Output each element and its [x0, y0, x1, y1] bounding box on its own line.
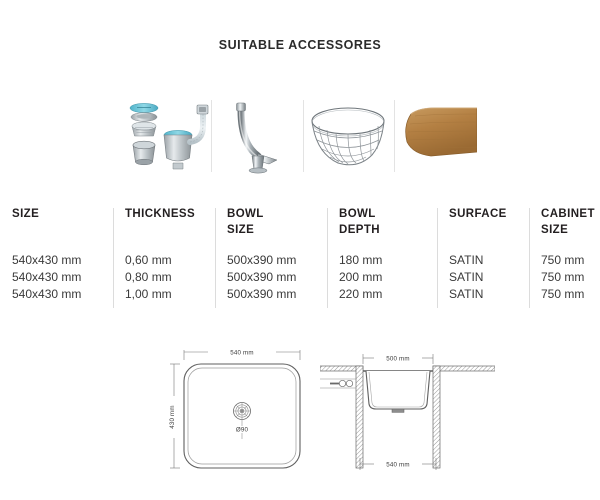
column-header-line: SIZE	[12, 206, 113, 222]
table-cell: 750 mm	[541, 286, 600, 303]
accessories-strip	[120, 92, 485, 180]
table-cell: 750 mm	[541, 252, 600, 269]
table-cell: 1,00 mm	[125, 286, 215, 303]
table-cell: 750 mm	[541, 269, 600, 286]
table-cell: 0,60 mm	[125, 252, 215, 269]
spec-values-thickness: 0,60 mm 0,80 mm 1,00 mm	[125, 252, 215, 303]
drain-kit-icon	[123, 100, 209, 172]
accessory-item-drain-waste-kit[interactable]	[120, 92, 211, 180]
column-header-thickness: THICKNESS	[125, 206, 215, 238]
table-cell: 540x430 mm	[12, 252, 113, 269]
top-view-width-label: 540 mm	[230, 349, 254, 356]
table-cell: 180 mm	[339, 252, 437, 269]
spec-column-thickness: THICKNESS 0,60 mm 0,80 mm 1,00 mm	[113, 206, 215, 303]
page-title-text: SUITABLE ACCESSORES	[219, 38, 382, 52]
section-view-cabinet-label: 540 mm	[386, 461, 410, 468]
faucet-icon	[225, 98, 289, 174]
sink-section-view-drawing: 500 mm	[320, 338, 495, 488]
accessory-item-wire-basket[interactable]	[303, 92, 394, 180]
table-cell: SATIN	[449, 286, 529, 303]
column-header-line: BOWL	[339, 206, 437, 222]
spec-values-surface: SATIN SATIN SATIN	[449, 252, 529, 303]
technical-drawings: 540 mm 430 mm	[0, 338, 600, 488]
column-header-surface: SURFACE	[449, 206, 529, 238]
spec-column-cabinet-size: CABINET SIZE 750 mm 750 mm 750 mm	[529, 206, 600, 303]
top-view-drain-label: Ø90	[236, 427, 249, 434]
table-cell: SATIN	[449, 269, 529, 286]
column-header-line: DEPTH	[339, 222, 437, 238]
column-header-bowl-depth: BOWL DEPTH	[339, 206, 437, 238]
column-header-line: SURFACE	[449, 206, 529, 222]
table-cell: 540x430 mm	[12, 286, 113, 303]
table-cell: SATIN	[449, 252, 529, 269]
accessory-item-wooden-chopping-board[interactable]	[394, 92, 485, 180]
drain-symbol	[234, 403, 251, 420]
sink-top-view-drawing: 540 mm 430 mm	[160, 338, 320, 488]
spec-column-bowl-depth: BOWL DEPTH 180 mm 200 mm 220 mm	[327, 206, 437, 303]
top-view-height-label: 430 mm	[169, 405, 176, 429]
spec-column-size: SIZE 540x430 mm 540x430 mm 540x430 mm	[0, 206, 113, 303]
column-header-line: THICKNESS	[125, 206, 215, 222]
column-header-line: SIZE	[541, 222, 600, 238]
column-header-line: CABINET	[541, 206, 600, 222]
colander-basket-icon	[306, 103, 390, 169]
column-header-line: BOWL	[227, 206, 327, 222]
specifications-table: SIZE 540x430 mm 540x430 mm 540x430 mm TH…	[0, 206, 600, 303]
table-cell: 0,80 mm	[125, 269, 215, 286]
spec-values-bowl-size: 500x390 mm 500x390 mm 500x390 mm	[227, 252, 327, 303]
spec-values-bowl-depth: 180 mm 200 mm 220 mm	[339, 252, 437, 303]
spec-values-cabinet-size: 750 mm 750 mm 750 mm	[541, 252, 600, 303]
column-header-line: SIZE	[227, 222, 327, 238]
table-cell: 500x390 mm	[227, 252, 327, 269]
spec-values-size: 540x430 mm 540x430 mm 540x430 mm	[12, 252, 113, 303]
table-cell: 200 mm	[339, 269, 437, 286]
table-cell: 540x430 mm	[12, 269, 113, 286]
table-cell: 500x390 mm	[227, 269, 327, 286]
column-header-cabinet-size: CABINET SIZE	[541, 206, 600, 238]
accessory-item-mixer-tap[interactable]	[211, 92, 302, 180]
section-view-opening-label: 500 mm	[386, 355, 410, 362]
page-title: SUITABLE ACCESSORES	[0, 36, 600, 54]
spec-column-surface: SURFACE SATIN SATIN SATIN	[437, 206, 529, 303]
column-header-bowl-size: BOWL SIZE	[227, 206, 327, 238]
column-header-size: SIZE	[12, 206, 113, 238]
table-cell: 220 mm	[339, 286, 437, 303]
spec-column-bowl-size: BOWL SIZE 500x390 mm 500x390 mm 500x390 …	[215, 206, 327, 303]
cutting-board-icon	[401, 104, 477, 168]
table-cell: 500x390 mm	[227, 286, 327, 303]
